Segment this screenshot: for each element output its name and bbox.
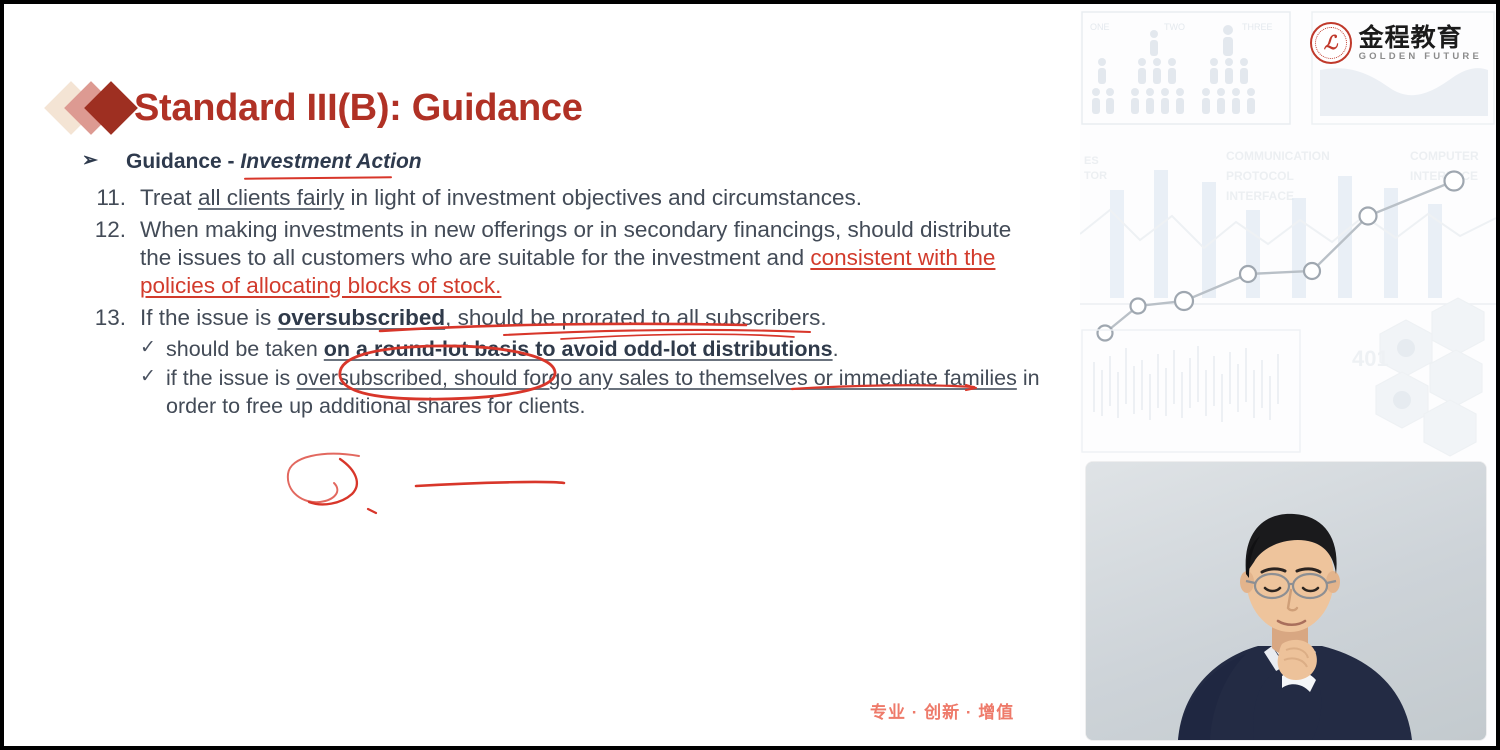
instructor-video-tile[interactable] (1086, 462, 1486, 740)
svg-text:PROTOCOL: PROTOCOL (1226, 169, 1294, 183)
text-run: Treat (140, 185, 198, 210)
sub-bullet-list: ✓ should be taken on a round-lot basis t… (140, 336, 1042, 420)
svg-text:THREE: THREE (1242, 22, 1273, 32)
list-item: ✓ should be taken on a round-lot basis t… (140, 336, 1042, 363)
brand-wordmark: 金程教育 GOLDEN FUTURE (1359, 25, 1482, 62)
annotation-hook-immediate-families-2 (309, 459, 357, 504)
list-item: 13. If the issue is oversubscribed, shou… (82, 304, 1042, 332)
list-item-number: 11. (82, 184, 140, 212)
annotation-hook-immediate-families (288, 454, 359, 502)
page-title: Standard III(B): Guidance (134, 89, 583, 127)
svg-text:TWO: TWO (1164, 22, 1185, 32)
text-run: If the issue is (140, 305, 278, 330)
instructor-figure (1086, 462, 1486, 740)
text-run: if the issue is (166, 366, 296, 390)
text-run: should be taken (166, 337, 324, 361)
text-run: all subscribers. (677, 305, 827, 330)
svg-text:ONE: ONE (1090, 22, 1110, 32)
numbered-list: 11. Treat all clients fairly in light of… (82, 184, 1042, 332)
sub-item-text: if the issue is oversubscribed, should f… (166, 365, 1042, 420)
brand-name-chinese: 金程教育 (1359, 25, 1482, 50)
sub-item-text: should be taken on a round-lot basis to … (166, 336, 1042, 363)
section-heading-emphasis: Investment Action (240, 150, 421, 173)
list-item-text: If the issue is oversubscribed, should b… (140, 304, 1042, 332)
annotation-underline-should-forgo (416, 482, 564, 486)
brand-name-english: GOLDEN FUTURE (1359, 52, 1482, 62)
text-run: . (833, 337, 839, 361)
slide-body: ➢ Guidance - Investment Action 11. Treat… (82, 148, 1042, 422)
brand-logo: ℒ 金程教育 GOLDEN FUTURE (1310, 22, 1482, 64)
svg-text:ES: ES (1084, 155, 1099, 167)
check-bullet-icon: ✓ (140, 365, 166, 390)
text-run: in light of investment objectives and ci… (344, 185, 862, 210)
list-item-number: 13. (82, 304, 140, 332)
arrow-bullet-icon: ➢ (82, 148, 126, 174)
svg-text:COMMUNICATION: COMMUNICATION (1226, 149, 1330, 163)
svg-text:INTERFACE: INTERFACE (1226, 189, 1294, 203)
text-run-bold-underlined: oversubscribed (278, 305, 446, 330)
frame-edge-bottom (0, 746, 1500, 750)
list-item: ✓ if the issue is oversubscribed, should… (140, 365, 1042, 420)
screen-frame: Standard III(B): Guidance ➢ Guidance - I… (0, 0, 1500, 750)
svg-text:TOR: TOR (1084, 170, 1107, 182)
text-run-bold-underlined: on a round-lot basis to avoid odd-lot di… (324, 337, 833, 361)
text-run-underlined: oversubscribed, should forgo any sales t… (296, 366, 1017, 390)
list-item: 12. When making investments in new offer… (82, 216, 1042, 301)
frame-edge-right (1496, 0, 1500, 750)
seal-letter: ℒ (1312, 24, 1350, 62)
slide-area: Standard III(B): Guidance ➢ Guidance - I… (4, 4, 1080, 746)
text-run-underlined: all clients fairly (198, 185, 344, 210)
list-item-text: Treat all clients fairly in light of inv… (140, 184, 1042, 212)
check-bullet-icon: ✓ (140, 336, 166, 361)
section-heading: ➢ Guidance - Investment Action (82, 148, 1042, 176)
slide-title-row: Standard III(B): Guidance (52, 80, 583, 136)
svg-text:401: 401 (1352, 346, 1389, 371)
annotation-underline-investment-action (244, 177, 392, 181)
text-run: , should be prorated to (445, 305, 676, 330)
list-item: 11. Treat all clients fairly in light of… (82, 184, 1042, 212)
annotation-tick (368, 509, 376, 513)
section-heading-prefix: Guidance - (126, 150, 240, 173)
right-panel: ONE TWO THREE ES TOR COMMUNICATION PROTO… (1080, 4, 1496, 746)
svg-text:COMPUTER: COMPUTER (1410, 149, 1479, 163)
seal-icon: ℒ (1310, 22, 1352, 64)
list-item-text: When making investments in new offerings… (140, 216, 1042, 301)
diamond-decoration-icon (52, 80, 138, 136)
footer-tagline: 专业 · 创新 · 增值 (870, 698, 1014, 723)
list-item-number: 12. (82, 216, 140, 244)
